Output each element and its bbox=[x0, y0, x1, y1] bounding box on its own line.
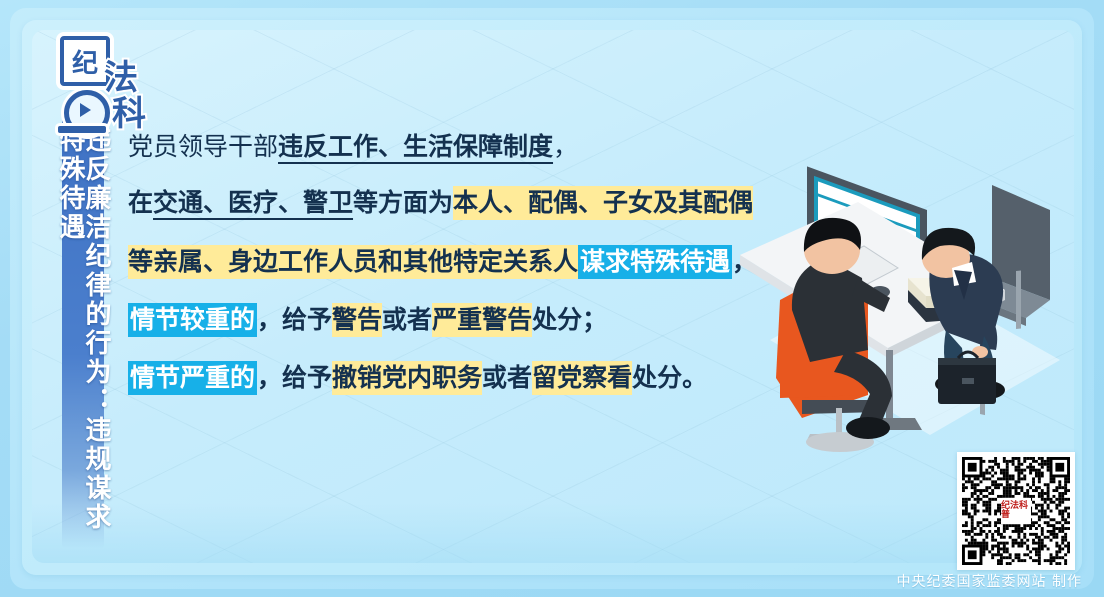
logo-char-ji-box: 纪 bbox=[60, 36, 110, 86]
main-text-block: 党员领导干部违反工作、生活保障制度， 在交通、医疗、警卫等方面为本人、配偶、子女… bbox=[128, 134, 828, 423]
logo-bottom-bar bbox=[58, 126, 106, 133]
line2-seg1: 在 bbox=[128, 188, 153, 217]
text-line-2: 在交通、医疗、警卫等方面为本人、配偶、子女及其配偶 bbox=[128, 190, 828, 216]
line1-seg3: ， bbox=[553, 132, 578, 161]
line4-seg3-highlight-yellow: 警告 bbox=[332, 303, 382, 337]
line2-seg4-highlight-yellow: 本人、配偶、子女及其配偶 bbox=[453, 186, 753, 220]
line2-seg2-underlined: 交通、医疗、警卫 bbox=[153, 188, 353, 217]
logo-char-ji: 纪 bbox=[64, 40, 106, 82]
briefcase bbox=[938, 352, 996, 404]
line5-seg4: 或者 bbox=[482, 363, 532, 392]
line1-seg1: 党员领导干部 bbox=[128, 132, 278, 161]
text-line-1: 党员领导干部违反工作、生活保障制度， bbox=[128, 134, 828, 160]
footer-credit: 中央纪委国家监委网站 制作 bbox=[897, 571, 1082, 591]
line5-seg2: ，给予 bbox=[257, 363, 332, 392]
vertical-banner: 违反廉洁纪律的行为：违规谋求特殊待遇 bbox=[62, 118, 104, 548]
line4-seg4: 或者 bbox=[382, 305, 432, 334]
line2-seg3: 等方面为 bbox=[353, 188, 453, 217]
vertical-banner-text: 违反廉洁纪律的行为：违规谋求特殊待遇 bbox=[57, 126, 109, 548]
poster-root: 纪 法 科 违反廉洁纪律的行为：违规谋求特殊待遇 党员领导干部违反工作、生活保障… bbox=[0, 0, 1104, 597]
line4-seg5-highlight-yellow: 严重警告 bbox=[432, 303, 532, 337]
line1-seg2-underlined: 违反工作、生活保障制度 bbox=[278, 132, 553, 161]
logo-char-ke: 科 bbox=[112, 86, 146, 135]
qr-code[interactable]: 纪法科普 bbox=[957, 452, 1075, 570]
text-line-5: 情节严重的，给予撤销党内职务或者留党察看处分。 bbox=[128, 365, 828, 391]
line4-seg6: 处分； bbox=[532, 305, 607, 334]
line3-seg1-highlight-yellow: 等亲属、身边工作人员和其他特定关系人 bbox=[128, 245, 578, 279]
qr-center-logo: 纪法科普 bbox=[1001, 498, 1031, 524]
line3-seg2-highlight-cyan: 谋求特殊待遇 bbox=[578, 245, 732, 279]
line4-seg1-highlight-cyan: 情节较重的 bbox=[128, 303, 257, 337]
text-line-3: 等亲属、身边工作人员和其他特定关系人谋求特殊待遇， bbox=[128, 249, 828, 275]
brand-logo: 纪 法 科 bbox=[52, 34, 156, 134]
line3-seg3: ， bbox=[732, 247, 757, 276]
line5-seg3-highlight-yellow: 撤销党内职务 bbox=[332, 361, 482, 395]
floor-glow bbox=[32, 503, 1074, 563]
line5-seg1-highlight-cyan: 情节严重的 bbox=[128, 361, 257, 395]
line4-seg2: ，给予 bbox=[257, 305, 332, 334]
line5-seg6: 处分。 bbox=[632, 363, 707, 392]
text-line-4: 情节较重的，给予警告或者严重警告处分； bbox=[128, 307, 828, 333]
line5-seg5-highlight-yellow: 留党察看 bbox=[532, 361, 632, 395]
